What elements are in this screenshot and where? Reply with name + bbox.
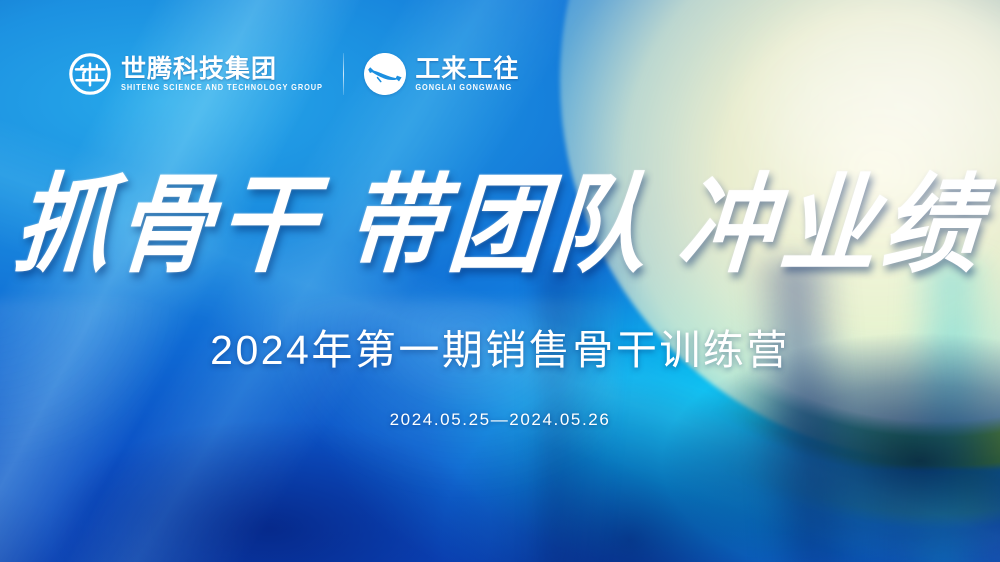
event-banner-poster: 世腾科技集团 SHITENG SCIENCE AND TECHNOLOGY GR…: [0, 0, 1000, 562]
shiteng-circular-emblem-icon: [68, 52, 112, 96]
brand-secondary: 工来工往 GONGLAI GONGWANG: [364, 53, 519, 95]
brand-primary-text: 世腾科技集团 SHITENG SCIENCE AND TECHNOLOGY GR…: [121, 57, 323, 91]
subtitle-text: 2024年第一期销售骨干训练营: [210, 327, 790, 373]
brand-primary: 世腾科技集团 SHITENG SCIENCE AND TECHNOLOGY GR…: [68, 52, 323, 96]
event-date: 2024.05.25—2024.05.26: [0, 410, 1000, 430]
subtitle: 2024年第一期销售骨干训练营: [0, 316, 1000, 376]
headline-part-1: 抓骨干: [10, 161, 327, 288]
brand-primary-name-cn: 世腾科技集团: [121, 57, 323, 82]
event-date-text: 2024.05.25—2024.05.26: [390, 410, 611, 429]
swallow-bird-disc-icon: [364, 53, 406, 95]
brand-secondary-name-en: GONGLAI GONGWANG: [415, 84, 519, 92]
logo-divider: [343, 53, 345, 95]
brand-secondary-name-cn: 工来工往: [415, 57, 519, 82]
brand-primary-name-en: SHITENG SCIENCE AND TECHNOLOGY GROUP: [121, 84, 323, 92]
brand-secondary-text: 工来工往 GONGLAI GONGWANG: [415, 57, 519, 91]
logo-lockup: 世腾科技集团 SHITENG SCIENCE AND TECHNOLOGY GR…: [68, 52, 519, 96]
